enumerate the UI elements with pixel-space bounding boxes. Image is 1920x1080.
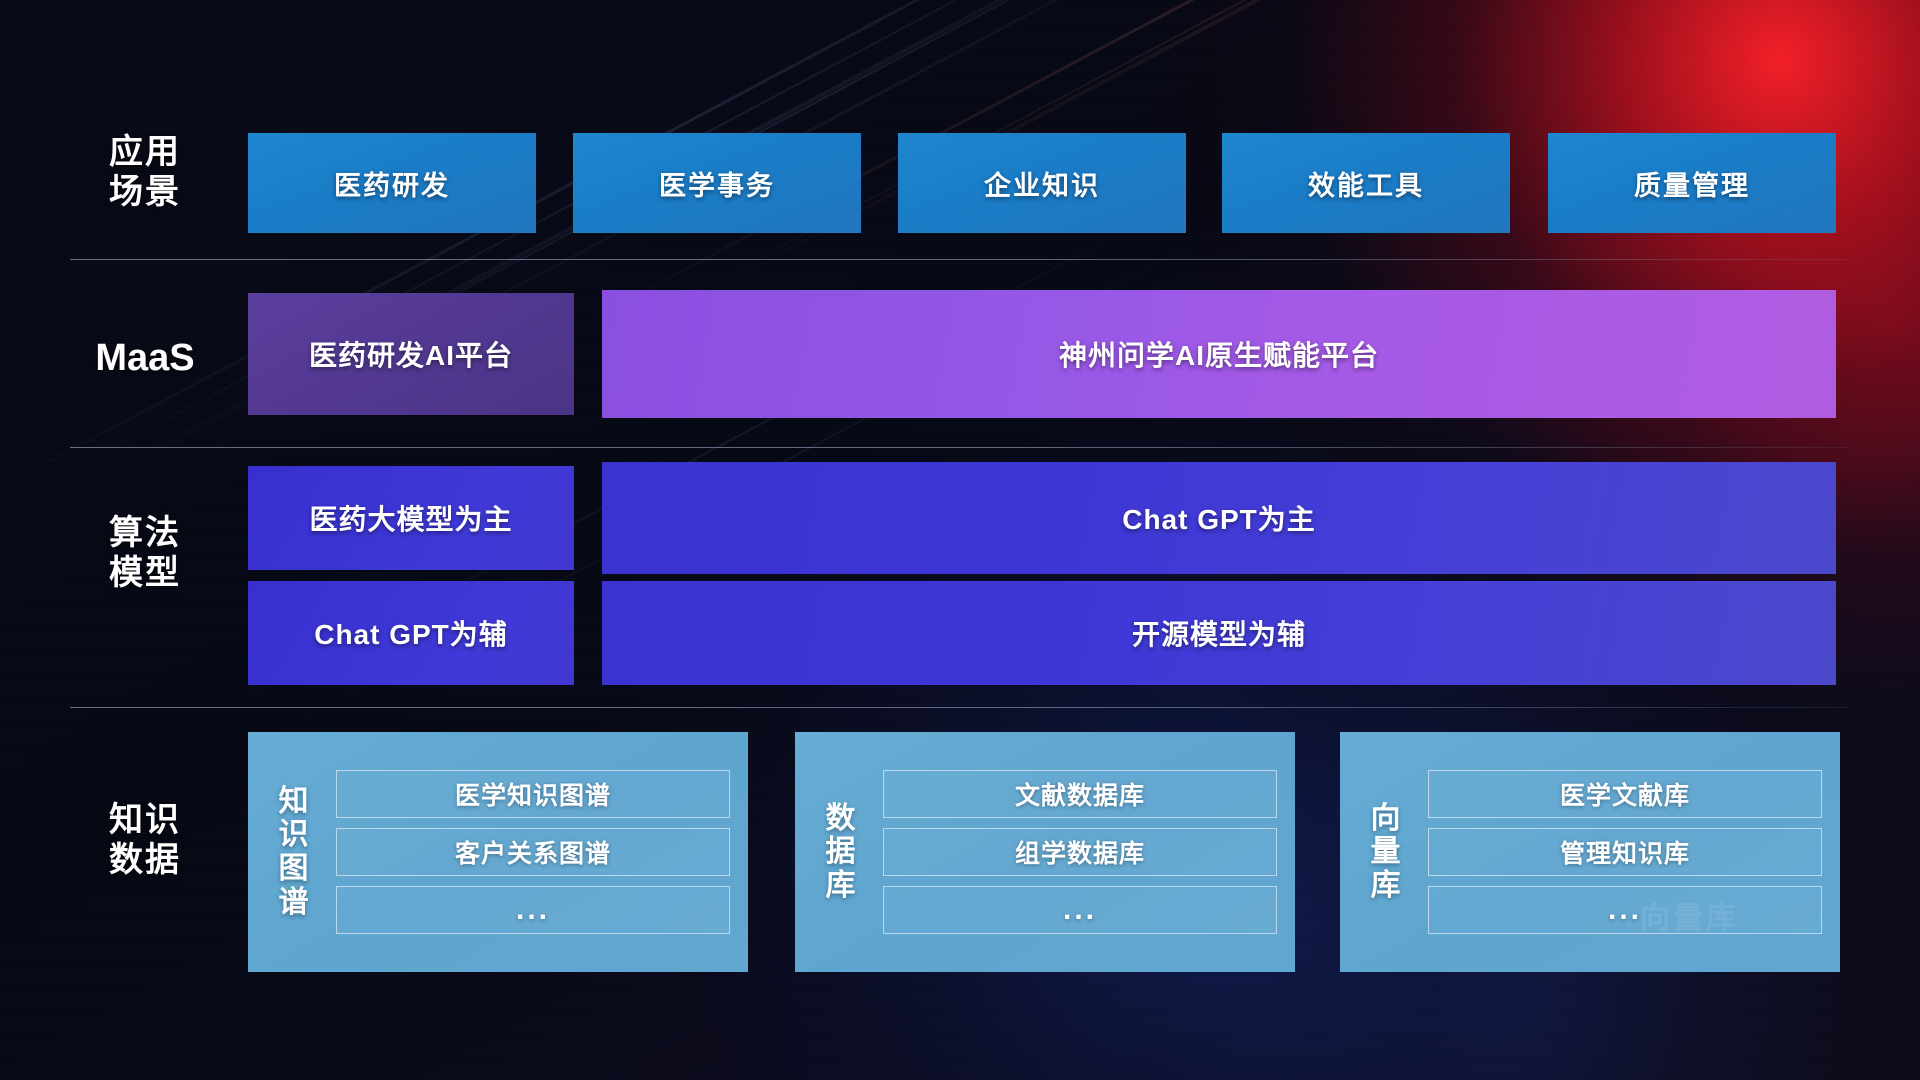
divider-1 <box>70 259 1850 260</box>
knowledge-item-label: 医学文献库 <box>1560 776 1690 812</box>
knowledge-item-more[interactable]: ... <box>883 886 1277 934</box>
title-char: 数 <box>813 802 869 836</box>
maas-platform-label: 神州问学AI原生赋能平台 <box>1059 334 1379 374</box>
app-box-3[interactable]: 企业知识 <box>898 133 1186 233</box>
maas-left-box[interactable]: 医药研发AI平台 <box>248 293 574 415</box>
algo-left-label: 医药大模型为主 <box>309 498 512 538</box>
row-label-knowledge-data: 知识 数据 <box>60 800 230 880</box>
title-char: 向 <box>1358 802 1414 836</box>
knowledge-group-1[interactable]: 知 识 图 谱 医学知识图谱 客户关系图谱 ... <box>248 732 748 972</box>
algo-left-label: Chat GPT为辅 <box>314 613 508 653</box>
knowledge-item[interactable]: 管理知识库 <box>1428 828 1822 876</box>
knowledge-item-list: 文献数据库 组学数据库 ... <box>883 770 1277 934</box>
app-box-4[interactable]: 效能工具 <box>1222 133 1510 233</box>
knowledge-item-label: 客户关系图谱 <box>455 834 611 870</box>
maas-left-label: 医药研发AI平台 <box>309 334 513 374</box>
knowledge-item[interactable]: 文献数据库 <box>883 770 1277 818</box>
title-char: 据 <box>813 835 869 869</box>
divider-3 <box>70 707 1850 708</box>
app-box-1[interactable]: 医药研发 <box>248 133 536 233</box>
knowledge-item-label: ... <box>1063 893 1097 927</box>
title-char: 库 <box>1358 869 1414 903</box>
algo-right-label: 开源模型为辅 <box>1132 613 1306 653</box>
knowledge-item-label: 文献数据库 <box>1015 776 1145 812</box>
knowledge-item[interactable]: 医学文献库 <box>1428 770 1822 818</box>
title-char: 图 <box>266 852 322 886</box>
maas-platform-box[interactable]: 神州问学AI原生赋能平台 <box>602 290 1836 418</box>
app-box-label: 质量管理 <box>1634 164 1750 203</box>
app-box-label: 医药研发 <box>334 164 450 203</box>
knowledge-item-label: ... <box>516 893 550 927</box>
knowledge-item-list: 医学知识图谱 客户关系图谱 ... <box>336 770 730 934</box>
algo-right-label: Chat GPT为主 <box>1122 498 1316 538</box>
app-box-label: 效能工具 <box>1308 164 1424 203</box>
row-label-application-scenarios: 应用 场景 <box>60 132 230 212</box>
row-label-maas: MaaS <box>60 336 230 381</box>
title-char: 量 <box>1358 835 1414 869</box>
row-label-algorithm-models: 算法 模型 <box>60 513 230 593</box>
knowledge-group-title: 知 识 图 谱 <box>266 785 322 919</box>
row-label-line: MaaS <box>60 336 230 381</box>
row-label-line: 模型 <box>60 553 230 593</box>
title-char: 库 <box>813 869 869 903</box>
title-char: 识 <box>266 818 322 852</box>
knowledge-item-more[interactable]: ... <box>336 886 730 934</box>
app-box-label: 医学事务 <box>659 164 775 203</box>
knowledge-group-3[interactable]: 向 量 库 医学文献库 管理知识库 ... <box>1340 732 1840 972</box>
knowledge-group-title: 数 据 库 <box>813 802 869 903</box>
algo-right-box-2[interactable]: 开源模型为辅 <box>602 581 1836 685</box>
row-label-line: 应用 <box>60 132 230 172</box>
title-char: 谱 <box>266 886 322 920</box>
row-label-line: 数据 <box>60 840 230 880</box>
title-char: 知 <box>266 785 322 819</box>
knowledge-group-2[interactable]: 数 据 库 文献数据库 组学数据库 ... <box>795 732 1295 972</box>
knowledge-item-more[interactable]: ... <box>1428 886 1822 934</box>
knowledge-item-label: 组学数据库 <box>1015 834 1145 870</box>
row-label-line: 算法 <box>60 513 230 553</box>
knowledge-group-title: 向 量 库 <box>1358 802 1414 903</box>
knowledge-item-label: ... <box>1608 893 1642 927</box>
app-box-5[interactable]: 质量管理 <box>1548 133 1836 233</box>
divider-2 <box>70 447 1850 448</box>
row-label-line: 知识 <box>60 800 230 840</box>
algo-left-box-1[interactable]: 医药大模型为主 <box>248 466 574 570</box>
knowledge-item-list: 医学文献库 管理知识库 ... <box>1428 770 1822 934</box>
knowledge-item-label: 医学知识图谱 <box>455 776 611 812</box>
knowledge-item[interactable]: 组学数据库 <box>883 828 1277 876</box>
knowledge-item[interactable]: 客户关系图谱 <box>336 828 730 876</box>
app-box-label: 企业知识 <box>984 164 1100 203</box>
knowledge-item-label: 管理知识库 <box>1560 834 1690 870</box>
diagram-canvas: 应用 场景 医药研发 医学事务 企业知识 效能工具 质量管理 MaaS 医药研发… <box>0 0 1920 1080</box>
app-box-2[interactable]: 医学事务 <box>573 133 861 233</box>
algo-left-box-2[interactable]: Chat GPT为辅 <box>248 581 574 685</box>
algo-right-box-1[interactable]: Chat GPT为主 <box>602 462 1836 574</box>
knowledge-item[interactable]: 医学知识图谱 <box>336 770 730 818</box>
row-label-line: 场景 <box>60 172 230 212</box>
